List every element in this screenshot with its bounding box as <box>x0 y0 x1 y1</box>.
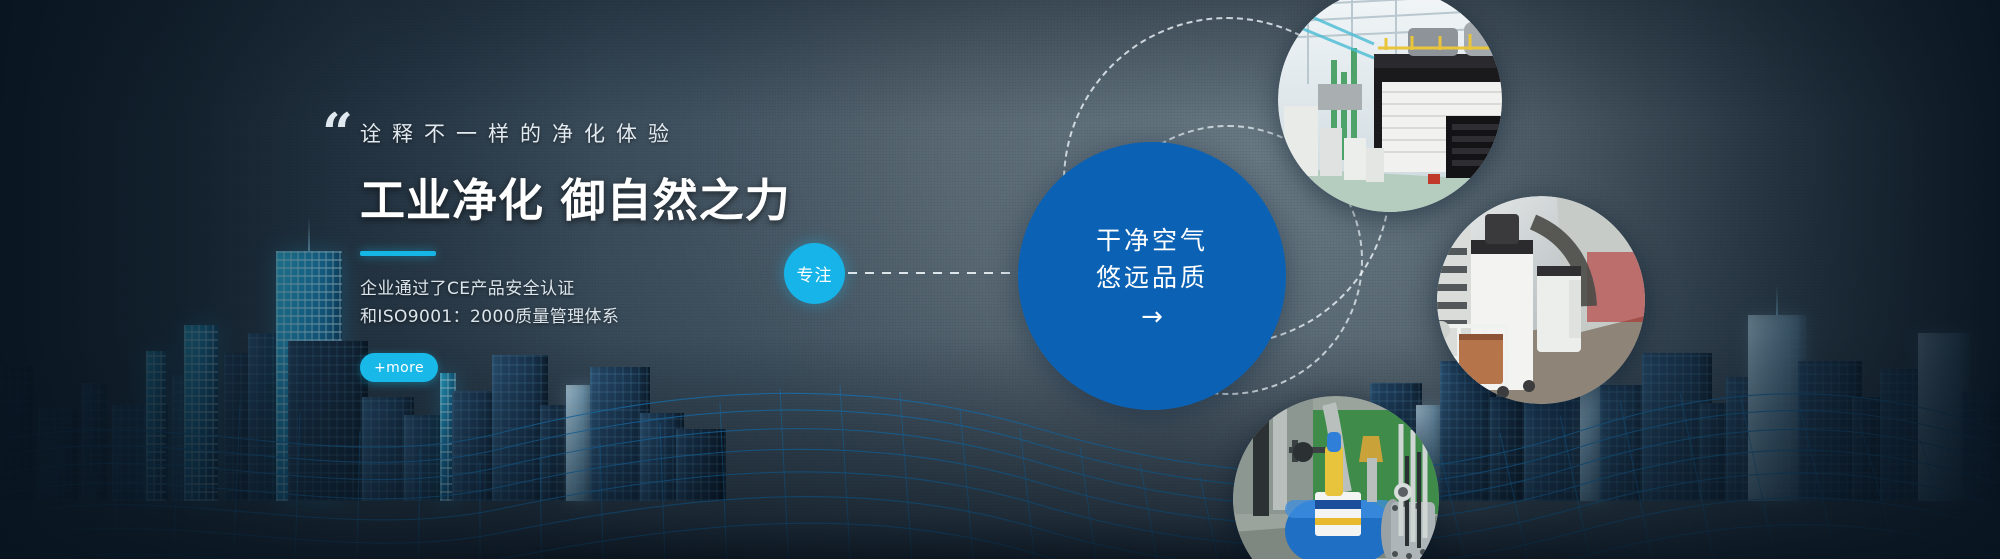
hero-text-block: “ 诠释不一样的净化体验 工业净化 御自然之力 企业通过了CE产品安全认证 和I… <box>360 118 791 382</box>
main-circle-line-1: 干净空气 <box>1096 222 1208 259</box>
subtitle-line-1: 企业通过了CE产品安全认证 <box>360 276 791 304</box>
focus-badge[interactable]: 专注 <box>784 243 845 304</box>
hero-subtitle: 企业通过了CE产品安全认证 和ISO9001：2000质量管理体系 <box>360 276 791 331</box>
hero-headline: 工业净化 御自然之力 <box>360 164 791 229</box>
arrow-right-icon: → <box>1141 304 1163 330</box>
subtitle-line-2: 和ISO9001：2000质量管理体系 <box>360 304 791 332</box>
photo-circle-textile-spinning-machinery[interactable] <box>1437 196 1645 404</box>
hero-tagline: 诠释不一样的净化体验 <box>360 118 791 148</box>
main-cta-circle[interactable]: 干净空气 悠远品质 → <box>1018 142 1286 410</box>
main-circle-line-2: 悠远品质 <box>1096 259 1208 296</box>
dashed-connector-line <box>848 272 1020 274</box>
more-button[interactable]: +more <box>360 353 438 382</box>
quote-mark-icon: “ <box>322 106 353 160</box>
background-vignette <box>0 0 2000 559</box>
accent-rule <box>360 251 436 256</box>
hero-banner: “ 诠释不一样的净化体验 工业净化 御自然之力 企业通过了CE产品安全认证 和I… <box>0 0 2000 559</box>
